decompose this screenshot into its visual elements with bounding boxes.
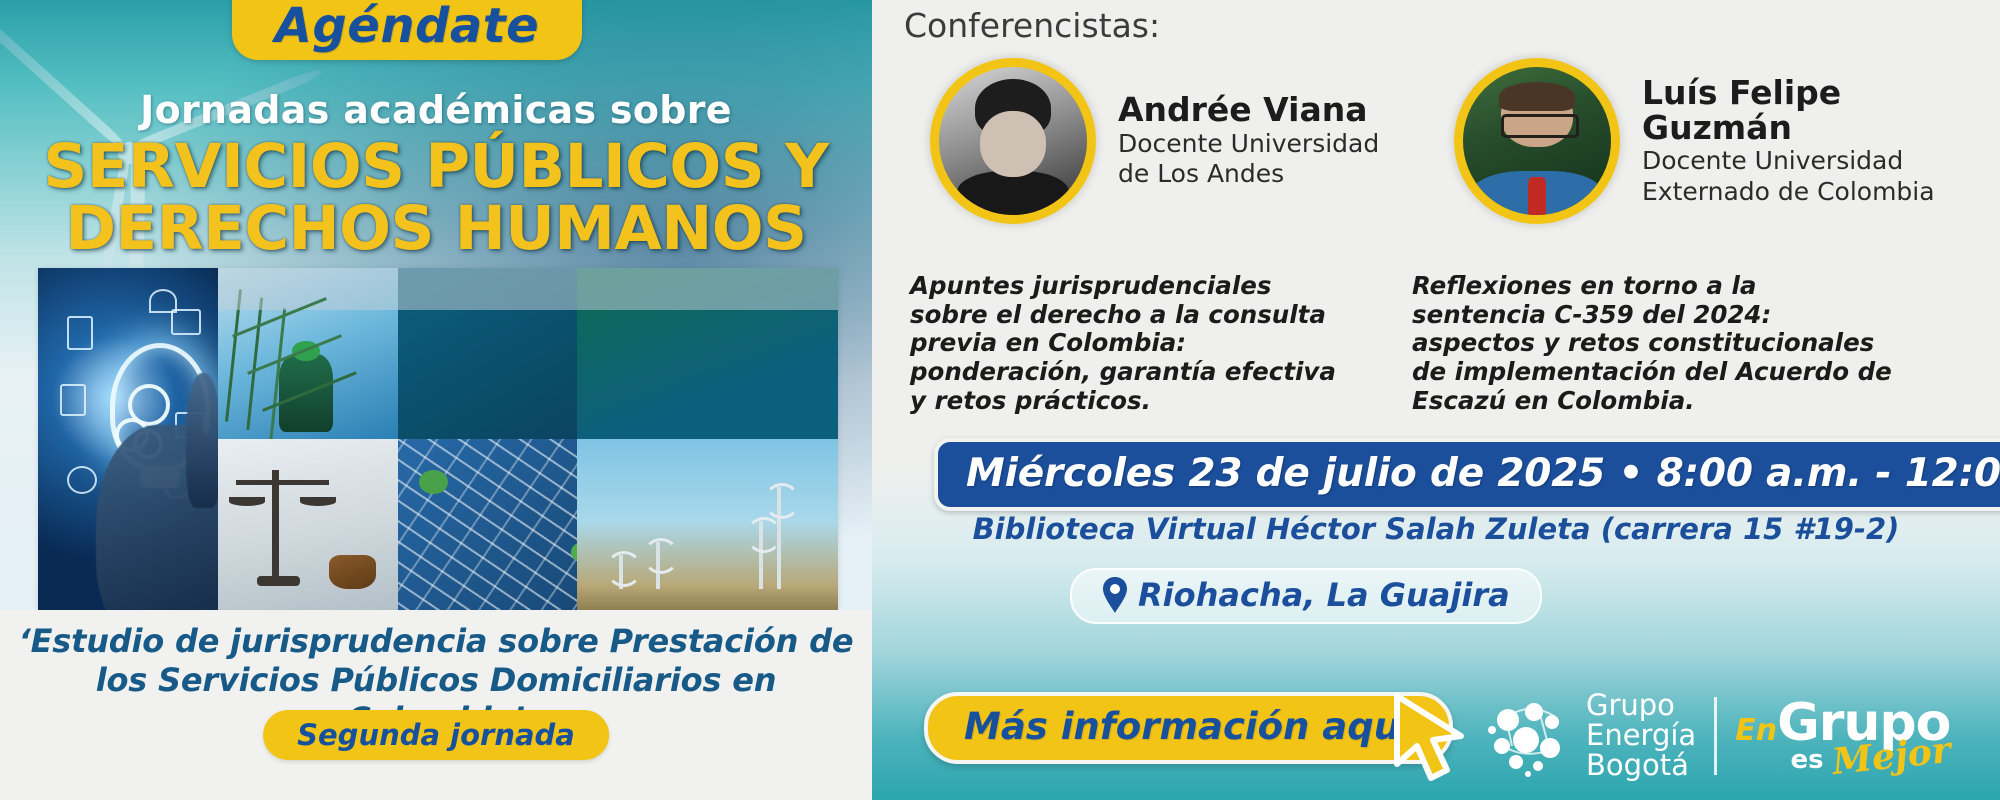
title-line-2: DERECHOS HUMANOS [0, 198, 872, 260]
collage-hand-lightbulb-image [38, 268, 218, 610]
date-time-banner: Miércoles 23 de julio de 2025 • 8:00 a.m… [934, 438, 2000, 511]
speaker-1-role-line-2: de Los Andes [1118, 160, 1379, 189]
photo-collage [38, 268, 838, 610]
location-pin-icon [1102, 577, 1128, 613]
left-footer: ‘Estudio de jurisprudencia sobre Prestac… [0, 610, 872, 800]
collage-scales-of-justice-image [218, 439, 398, 610]
mouse-cursor-icon [1387, 690, 1475, 786]
talk-titles: Apuntes jurisprudenciales sobre el derec… [872, 272, 2000, 415]
speaker-2-role-line-2: Externado de Colombia [1642, 178, 1974, 207]
speaker-1-name: Andrée Viana [1118, 93, 1379, 128]
geb-logo-line-2: Energía [1586, 721, 1696, 751]
speaker-card-2: Luís Felipe Guzmán Docente Universidad E… [1454, 58, 1974, 224]
sponsor-logos: Grupo Energía Bogotá En Grupo es Mejor [1482, 690, 1950, 782]
title-line-1: SERVICIOS PÚBLICOS Y [0, 136, 872, 198]
speaker-1-role-line-1: Docente Universidad [1118, 130, 1379, 159]
left-hero: Agéndate Jornadas académicas sobre SERVI… [0, 0, 872, 610]
subheading: Jornadas académicas sobre [0, 88, 872, 132]
page-title: SERVICIOS PÚBLICOS Y DERECHOS HUMANOS [0, 136, 872, 260]
speaker-1-avatar [930, 58, 1096, 224]
venue-text: Biblioteca Virtual Héctor Salah Zuleta (… [872, 512, 2000, 546]
logo-divider [1714, 697, 1717, 775]
speaker-2-name: Luís Felipe Guzmán [1642, 76, 1974, 146]
more-info-button[interactable]: Más información aquí [924, 692, 1453, 764]
geb-logo-line-3: Bogotá [1586, 751, 1696, 781]
molecule-icon [1482, 690, 1574, 782]
collage-filler-block-1 [398, 268, 578, 439]
collage-power-lines-image [218, 268, 398, 439]
speaker-2-talk-title: Reflexiones en torno a la sentencia C-35… [1412, 272, 1892, 415]
engrupo-mejor-text: Mejor [1830, 732, 1952, 778]
session-badge: Segunda jornada [263, 710, 609, 760]
speakers-list: Andrée Viana Docente Universidad de Los … [872, 58, 2000, 224]
date-time-text: Miércoles 23 de julio de 2025 • 8:00 a.m… [966, 451, 2000, 496]
geb-logo-line-1: Grupo [1586, 691, 1696, 721]
collage-solar-panels-image [398, 439, 578, 610]
city-pill: Riohacha, La Guajira [1070, 568, 1542, 624]
grupo-energia-bogota-logo: Grupo Energía Bogotá [1482, 690, 1696, 782]
study-title-line-1: ‘Estudio de jurisprudencia sobre Prestac… [14, 622, 858, 661]
city-label: Riohacha, La Guajira [1138, 576, 1510, 614]
agendate-badge-label: Agéndate [275, 0, 539, 60]
speaker-2-role-line-1: Docente Universidad [1642, 147, 1974, 176]
speaker-1-talk-title: Apuntes jurisprudenciales sobre el derec… [910, 272, 1350, 415]
left-panel: Agéndate Jornadas académicas sobre SERVI… [0, 0, 872, 800]
event-banner: Agéndate Jornadas académicas sobre SERVI… [0, 0, 2000, 800]
en-grupo-es-mejor-logo: En Grupo es Mejor [1735, 699, 1950, 773]
collage-wind-turbines-image [577, 439, 838, 610]
speaker-card-1: Andrée Viana Docente Universidad de Los … [930, 58, 1430, 224]
speakers-label: Conferencistas: [904, 6, 1160, 45]
speaker-2-avatar [1454, 58, 1620, 224]
agendate-badge: Agéndate [232, 0, 582, 60]
more-info-button-label: Más información aquí [964, 705, 1413, 748]
collage-filler-block-2 [577, 268, 838, 439]
engrupo-es-text: es [1790, 748, 1823, 773]
right-panel: Conferencistas: Andrée Viana Docente Uni… [872, 0, 2000, 800]
